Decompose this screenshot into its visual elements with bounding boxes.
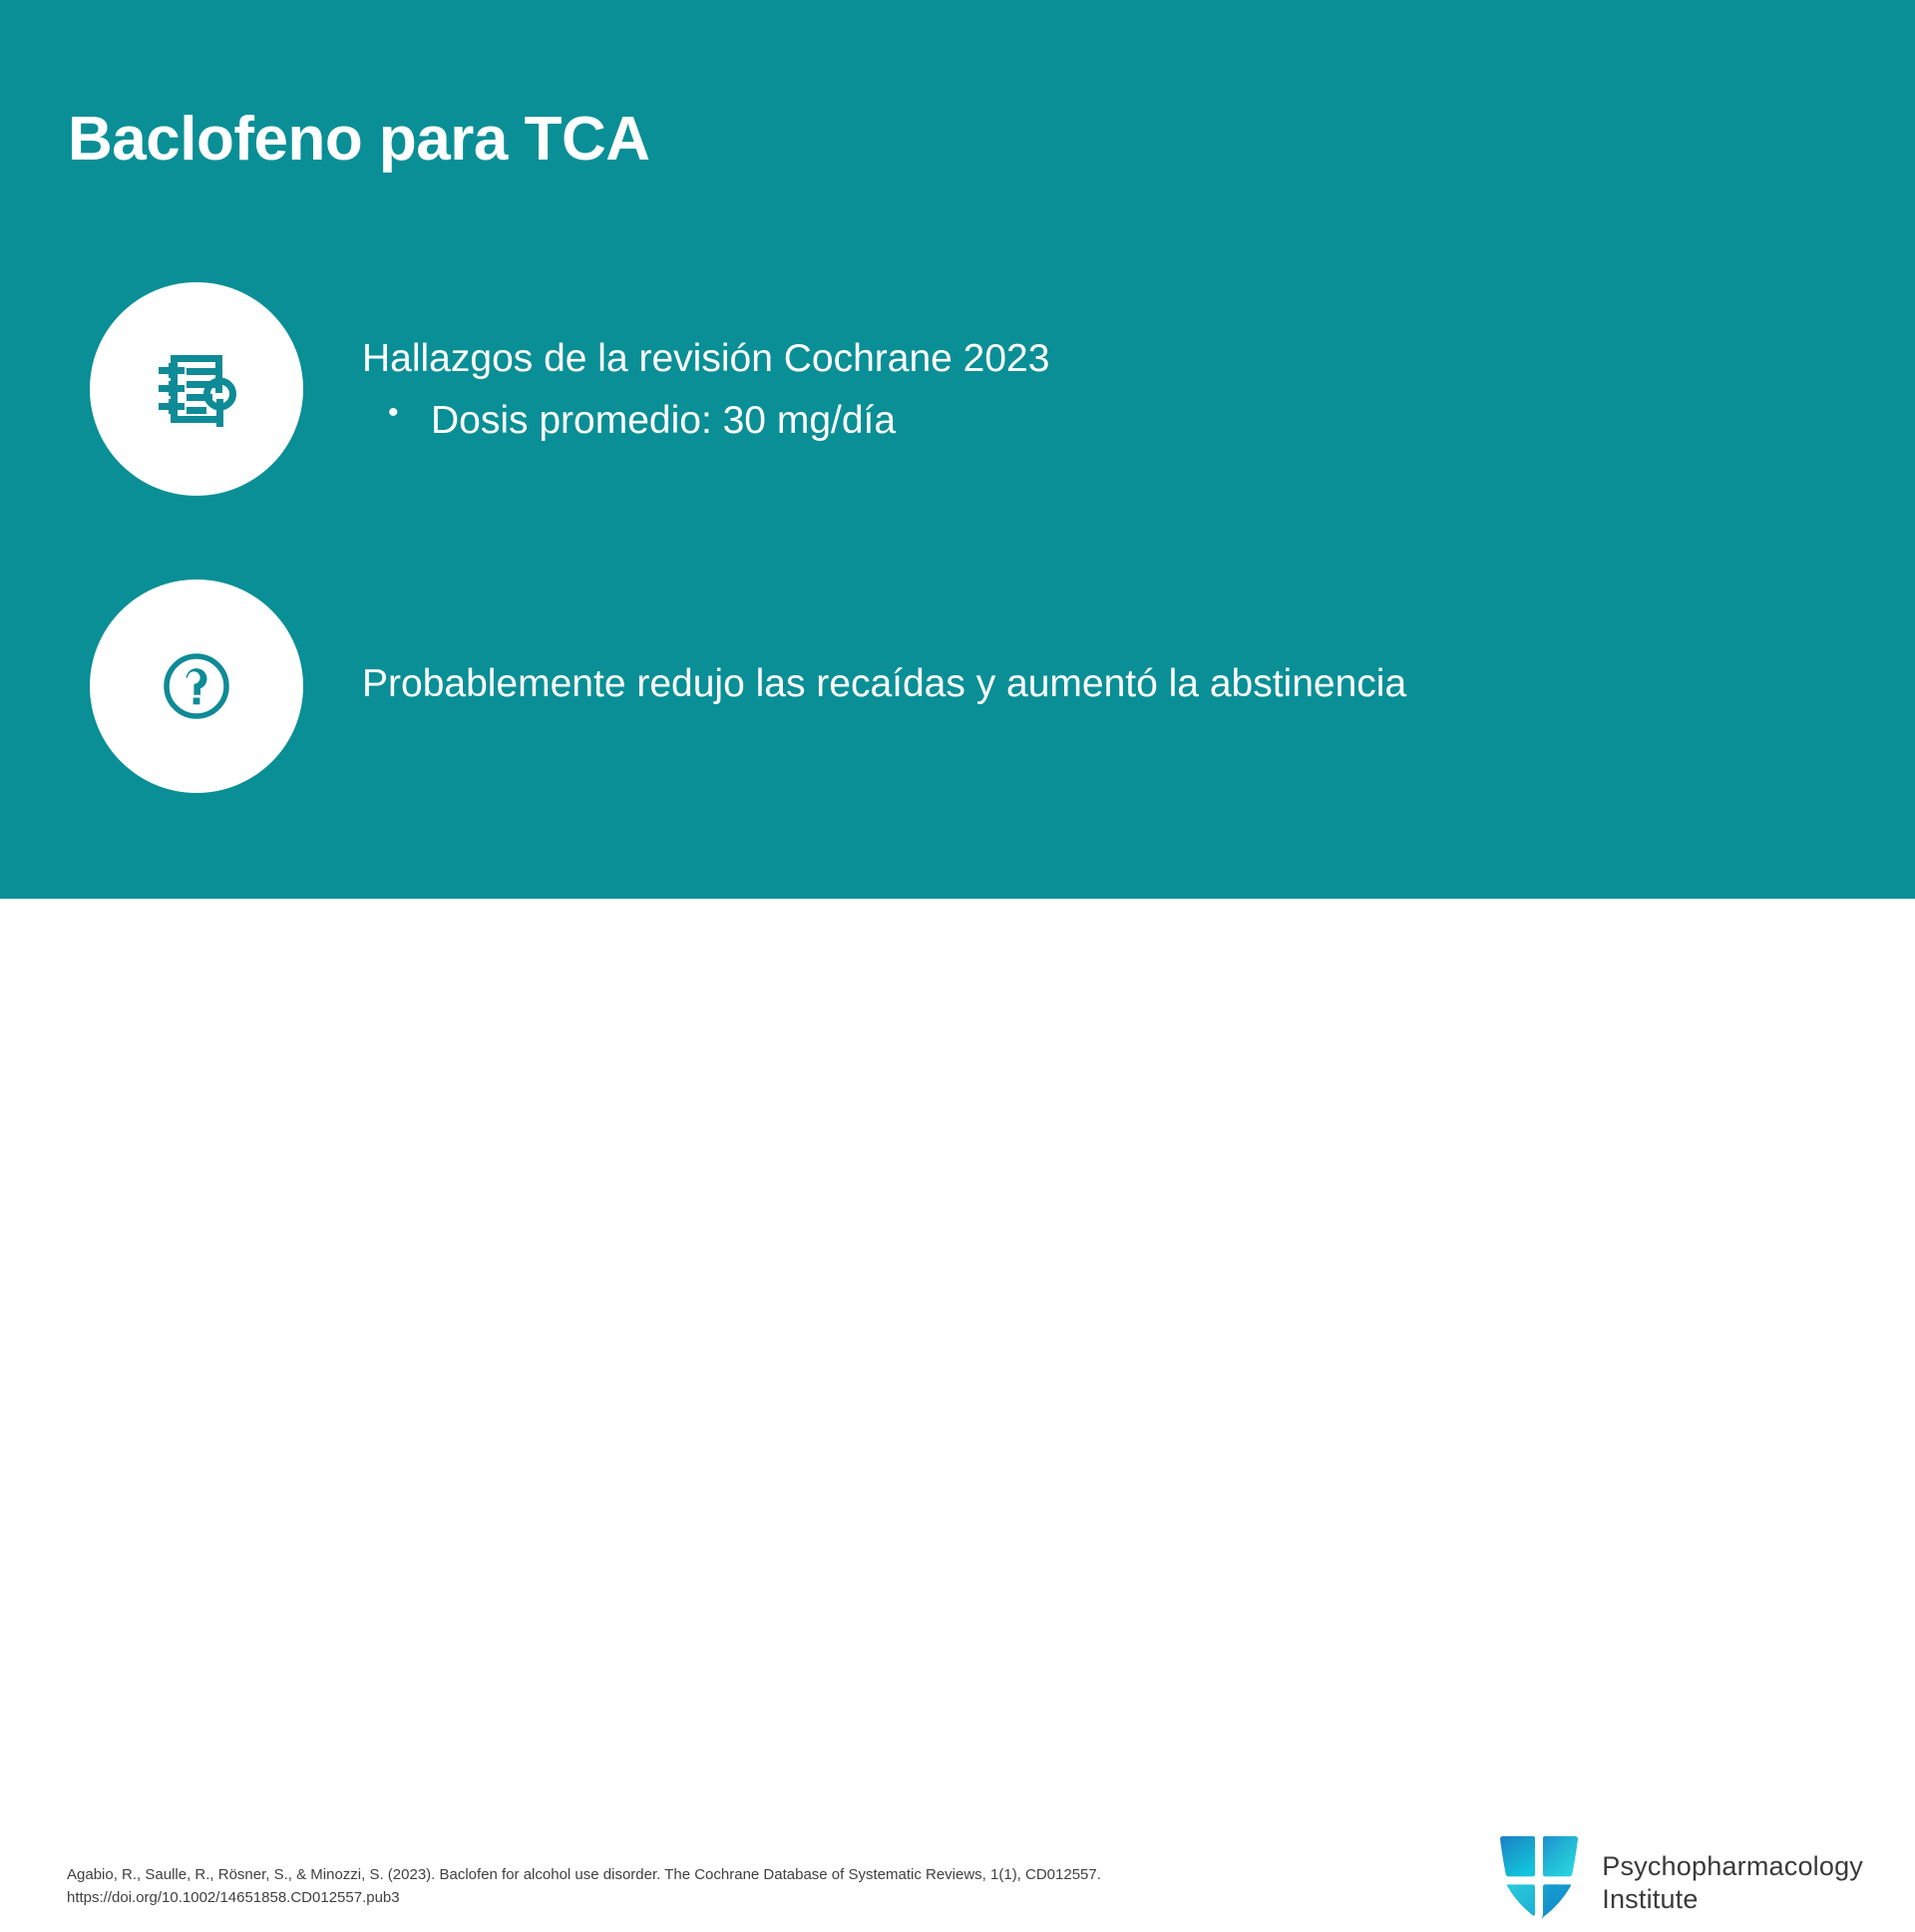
- icon-badge-document-review: [90, 282, 303, 496]
- icon-badge-question: [90, 580, 303, 793]
- row-heading: Probablemente redujo las recaídas y aume…: [362, 659, 1406, 709]
- content-row-findings: Hallazgos de la revisión Cochrane 2023 D…: [0, 282, 1915, 497]
- slide-footer: Agabio, R., Saulle, R., Rösner, S., & Mi…: [0, 899, 1915, 1077]
- citation-line-1: Agabio, R., Saulle, R., Rösner, S., & Mi…: [67, 1863, 1101, 1886]
- brand-wordmark: Psychopharmacology Institute: [1602, 1850, 1863, 1916]
- row-heading: Hallazgos de la revisión Cochrane 2023: [362, 334, 1049, 384]
- brand-name-line-1: Psychopharmacology: [1602, 1850, 1863, 1883]
- slide-root: Baclofeno para TCA: [0, 0, 1915, 1077]
- row-text-block: Probablemente redujo las recaídas y aume…: [362, 659, 1406, 709]
- citation-line-2: https://doi.org/10.1002/14651858.CD01255…: [67, 1886, 1101, 1909]
- citation-reference: Agabio, R., Saulle, R., Rösner, S., & Mi…: [67, 1863, 1101, 1910]
- brand-logo: Psychopharmacology Institute: [1498, 1834, 1863, 1932]
- row-bullet-list: Dosis promedio: 30 mg/día: [362, 396, 1049, 446]
- shield-cross-logo-icon: [1498, 1834, 1580, 1932]
- brand-name-line-2: Institute: [1602, 1883, 1863, 1916]
- content-row-outcome: Probablemente redujo las recaídas y aume…: [0, 580, 1915, 794]
- list-item: Dosis promedio: 30 mg/día: [362, 396, 1049, 446]
- question-mark-circle-icon: [160, 649, 233, 723]
- page-title: Baclofeno para TCA: [68, 104, 650, 175]
- row-text-block: Hallazgos de la revisión Cochrane 2023 D…: [362, 334, 1049, 446]
- document-review-icon: [149, 341, 244, 437]
